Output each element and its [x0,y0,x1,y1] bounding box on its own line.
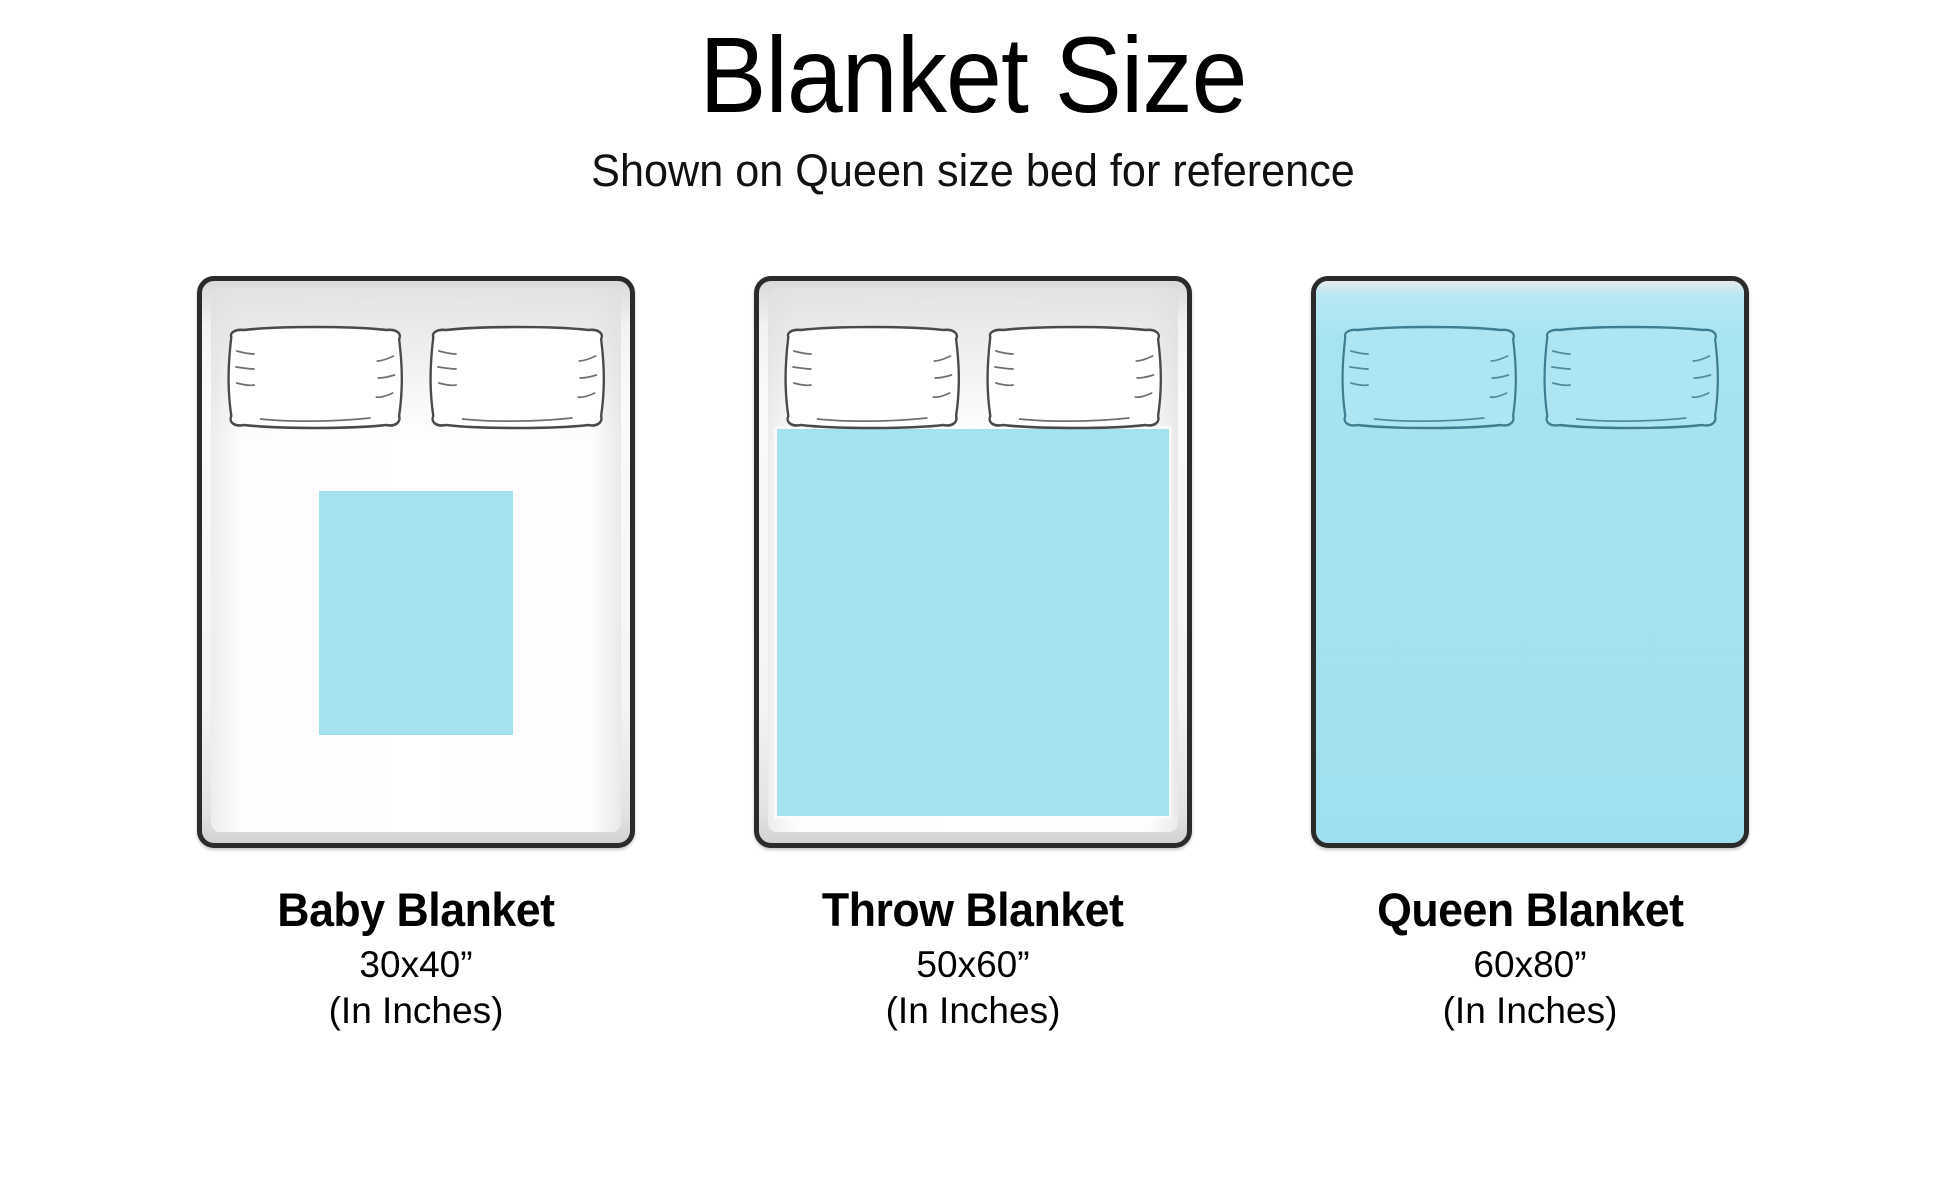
pillow-right-icon [1540,323,1722,431]
blanket-size-infographic: Blanket Size Shown on Queen size bed for… [0,0,1946,1182]
pillow-left-icon [781,323,963,431]
pillow-right-icon [983,323,1165,431]
bed-column-queen: Queen Blanket 60x80” (In Inches) [1310,276,1750,1032]
caption-queen: Queen Blanket 60x80” (In Inches) [1369,882,1692,1032]
blanket-unit-label: (In Inches) [814,990,1131,1032]
page-subtitle: Shown on Queen size bed for reference [39,145,1907,197]
pillow-left-icon [1338,323,1520,431]
bed-illustration-baby [197,276,635,848]
blanket-dimensions: 60x80” [1369,944,1692,986]
pillow-group [781,323,1165,431]
blanket-overlay-baby [319,491,513,735]
pillow-right-icon [426,323,608,431]
bed-comparison-row: Baby Blanket 30x40” (In Inches) [0,276,1946,1032]
blanket-dimensions: 50x60” [814,944,1131,986]
page-title: Blanket Size [68,18,1878,131]
blanket-name-label: Queen Blanket [1377,882,1683,937]
blanket-overlay-throw [777,429,1169,816]
header: Blanket Size Shown on Queen size bed for… [0,0,1946,197]
blanket-name-label: Baby Blanket [277,882,554,937]
pillow-group [1338,323,1722,431]
blanket-name-label: Throw Blanket [822,882,1123,937]
pillow-left-icon [224,323,406,431]
pillow-group [224,323,608,431]
bed-column-throw: Throw Blanket 50x60” (In Inches) [753,276,1193,1032]
blanket-unit-label: (In Inches) [270,990,562,1032]
bed-column-baby: Baby Blanket 30x40” (In Inches) [196,276,636,1032]
caption-throw: Throw Blanket 50x60” (In Inches) [814,882,1131,1032]
bed-illustration-throw [754,276,1192,848]
blanket-unit-label: (In Inches) [1369,990,1692,1032]
caption-baby: Baby Blanket 30x40” (In Inches) [270,882,562,1032]
blanket-dimensions: 30x40” [270,944,562,986]
bed-illustration-queen [1311,276,1749,848]
